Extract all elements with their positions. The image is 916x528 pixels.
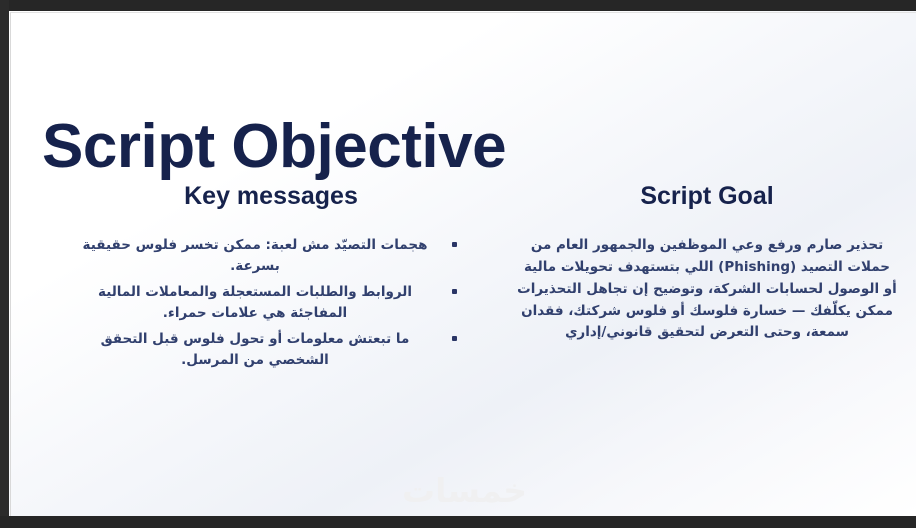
list-item-text: الروابط والطلبات المستعجلة والمعاملات ال… <box>98 284 412 321</box>
viewer-top-bar <box>0 0 916 11</box>
bullet-dot-icon <box>452 336 457 341</box>
page-title: Script Objective <box>42 114 506 179</box>
list-item-text: ما تبعتش معلومات أو تحول فلوس قبل التحقق… <box>101 331 410 368</box>
list-item: ما تبعتش معلومات أو تحول فلوس قبل التحقق… <box>71 329 457 371</box>
bullet-dot-icon <box>452 242 457 247</box>
watermark: خمسات <box>11 471 916 510</box>
bullet-dot-icon <box>452 289 457 294</box>
viewer-left-rail <box>0 0 9 528</box>
list-item: هجمات التصيّد مش لعبة: ممكن تخسر فلوس حق… <box>71 235 457 277</box>
key-messages-list: هجمات التصيّد مش لعبة: ممكن تخسر فلوس حق… <box>71 235 471 371</box>
slide-viewer: Script Objective Key messages هجمات التص… <box>0 0 916 528</box>
key-messages-heading: Key messages <box>71 181 471 211</box>
viewer-bottom-bar <box>0 516 916 528</box>
list-item: الروابط والطلبات المستعجلة والمعاملات ال… <box>71 282 457 324</box>
slide-content-area: Script Objective Key messages هجمات التص… <box>10 12 916 516</box>
script-goal-text: تحذير صارم ورفع وعي الموظفين والجمهور ال… <box>516 235 898 344</box>
script-goal-column: Script Goal تحذير صارم ورفع وعي الموظفين… <box>516 181 898 344</box>
slide-canvas: Script Objective Key messages هجمات التص… <box>9 11 916 516</box>
two-column-body: Key messages هجمات التصيّد مش لعبة: ممكن… <box>11 181 916 441</box>
key-messages-column: Key messages هجمات التصيّد مش لعبة: ممكن… <box>71 181 471 376</box>
script-goal-heading: Script Goal <box>516 181 898 211</box>
list-item-text: هجمات التصيّد مش لعبة: ممكن تخسر فلوس حق… <box>83 237 428 274</box>
